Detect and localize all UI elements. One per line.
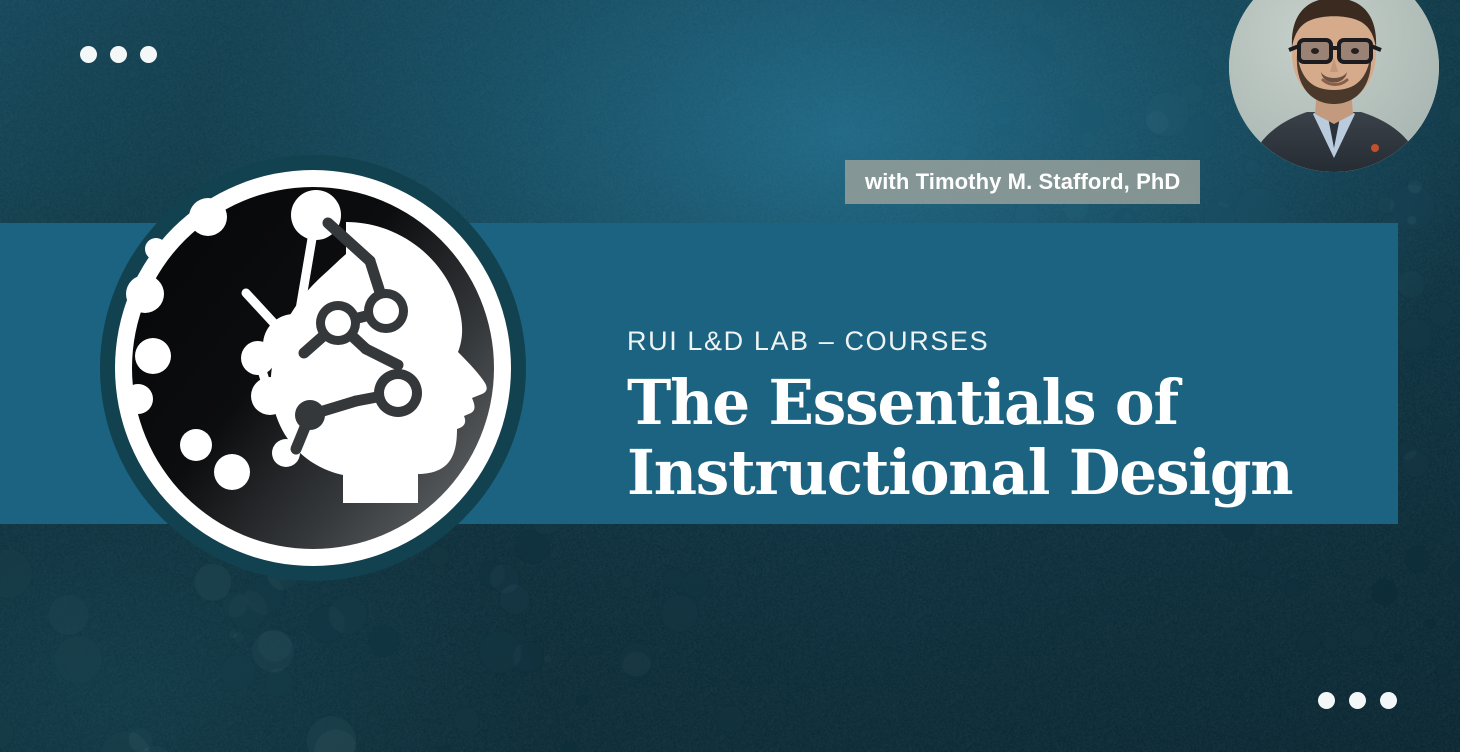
dot-icon bbox=[80, 46, 97, 63]
dot-icon bbox=[1349, 692, 1366, 709]
title-block: RUI L&D LAB – COURSES The Essentials of … bbox=[627, 328, 1327, 508]
dot-icon bbox=[140, 46, 157, 63]
page-title-line-1: The Essentials of bbox=[627, 368, 1299, 438]
dots-top-left bbox=[80, 46, 157, 63]
dot-icon bbox=[1318, 692, 1335, 709]
speaker-badge-label: with Timothy M. Stafford, PhD bbox=[865, 169, 1180, 195]
dot-icon bbox=[1380, 692, 1397, 709]
eyebrow-label: RUI L&D LAB – COURSES bbox=[627, 328, 1327, 355]
dots-bottom-right bbox=[1318, 692, 1397, 709]
page-title-line-2: Instructional Design bbox=[627, 438, 1299, 508]
speaker-headshot bbox=[1229, 0, 1439, 172]
course-title-slide: with Timothy M. Stafford, PhD RUI L&D LA… bbox=[0, 0, 1460, 752]
rui-ld-lab-logo bbox=[98, 153, 528, 583]
speaker-badge: with Timothy M. Stafford, PhD bbox=[845, 160, 1200, 204]
dot-icon bbox=[110, 46, 127, 63]
